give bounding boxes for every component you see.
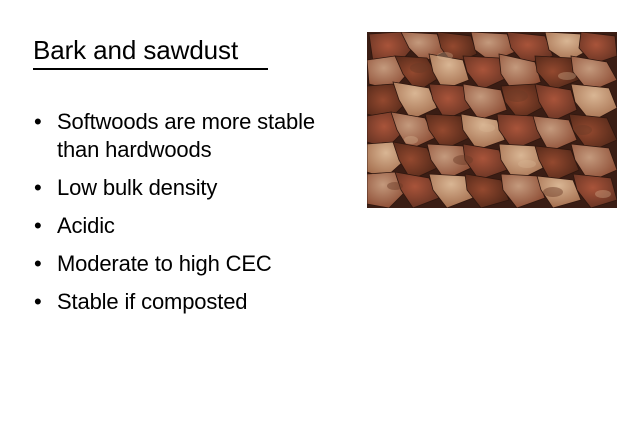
list-item: • Softwoods are more stable than hardwoo… <box>30 108 330 164</box>
list-item: • Moderate to high CEC <box>30 250 330 278</box>
bullet-icon: • <box>34 250 42 278</box>
bullet-icon: • <box>34 108 42 136</box>
page-title: Bark and sawdust <box>33 34 238 66</box>
bullet-list: • Softwoods are more stable than hardwoo… <box>30 108 330 316</box>
bullet-icon: • <box>34 288 42 316</box>
list-item: • Low bulk density <box>30 174 330 202</box>
list-item-label: Stable if composted <box>57 288 330 316</box>
list-item: • Acidic <box>30 212 330 240</box>
bark-mulch-illustration <box>367 32 617 208</box>
bullet-icon: • <box>34 212 42 240</box>
list-item: • Stable if composted <box>30 288 330 316</box>
slide-canvas: Bark and sawdust • Softwoods are more st… <box>0 0 640 429</box>
title-underline <box>33 68 268 70</box>
list-item-label: Softwoods are more stable than hardwoods <box>57 108 330 164</box>
list-item-label: Acidic <box>57 212 330 240</box>
list-item-label: Low bulk density <box>57 174 330 202</box>
list-item-label: Moderate to high CEC <box>57 250 330 278</box>
bark-mulch-photo <box>367 32 617 208</box>
bullet-icon: • <box>34 174 42 202</box>
